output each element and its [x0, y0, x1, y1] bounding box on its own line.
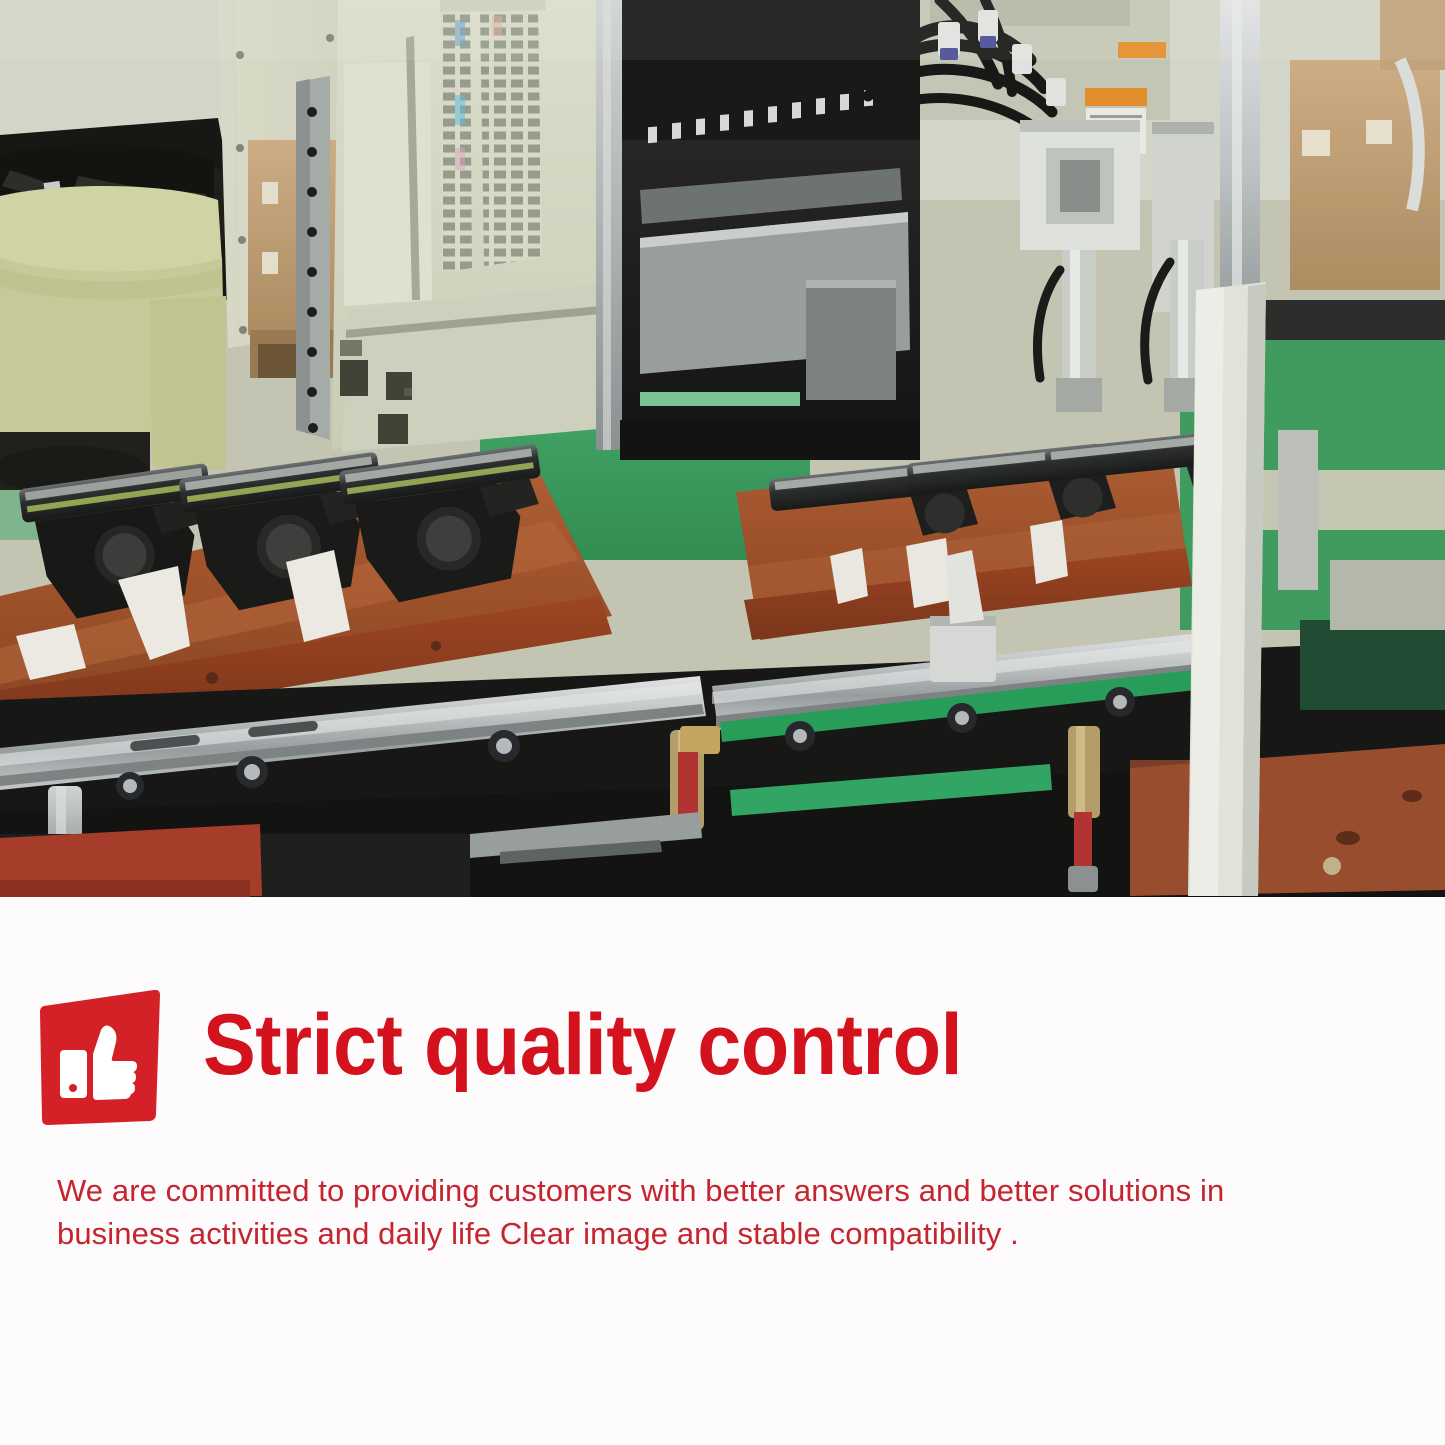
headline-row: Strict quality control	[0, 988, 1445, 1128]
page-title: Strict quality control	[203, 1002, 962, 1088]
thumbs-up-badge-svg	[38, 988, 164, 1126]
description-text: We are committed to providing customers …	[57, 1169, 1297, 1255]
promo-page: Strict quality control We are committed …	[0, 0, 1445, 1445]
thumb-cuff-dot	[69, 1084, 77, 1092]
factory-photo-illustration	[0, 0, 1445, 897]
content-section: Strict quality control We are committed …	[0, 897, 1445, 1445]
factory-photo	[0, 0, 1445, 897]
thumbs-up-icon	[38, 988, 164, 1126]
